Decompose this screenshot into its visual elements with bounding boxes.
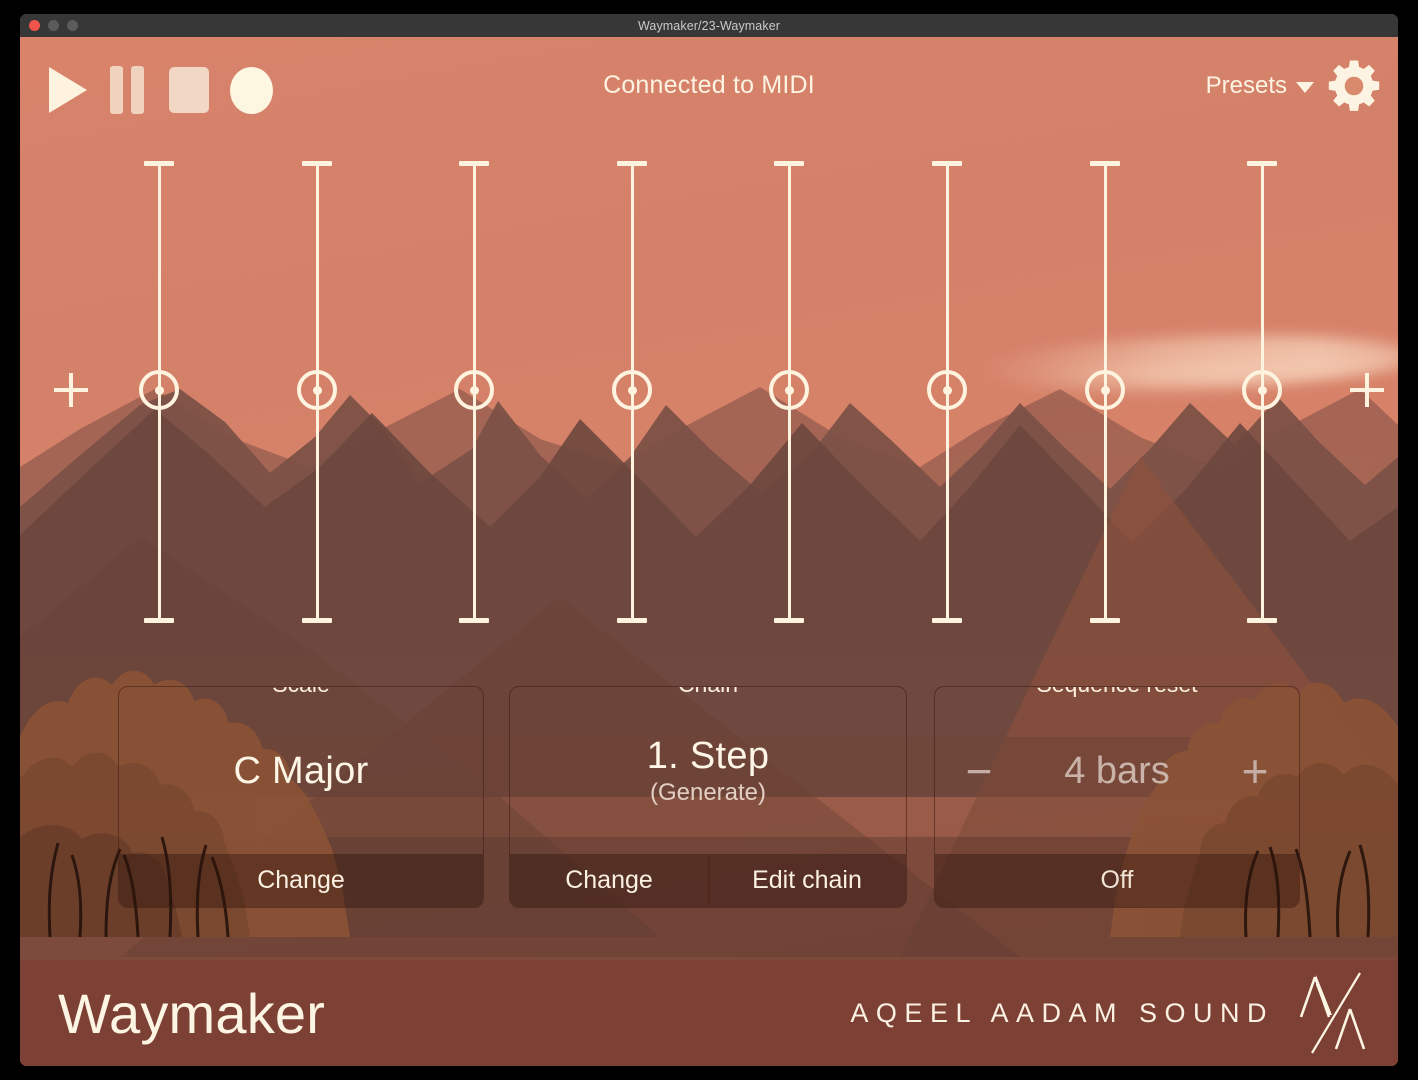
step-slider-3[interactable] [454, 161, 494, 623]
maximize-window-icon[interactable] [67, 20, 78, 31]
slider-cap-bottom [617, 618, 647, 623]
chain-panel-legend: Chain [665, 686, 751, 698]
slider-cap-bottom [459, 618, 489, 623]
transport-controls [34, 61, 282, 119]
slider-handle[interactable] [139, 370, 179, 410]
company-name: AQEEL AADAM SOUND [850, 998, 1274, 1029]
app-root: Waymaker/23-Waymaker [0, 0, 1418, 1080]
company-branding: AQEEL AADAM SOUND [850, 971, 1376, 1055]
window-title: Waymaker/23-Waymaker [638, 19, 780, 33]
step-slider-1[interactable] [139, 161, 179, 623]
chain-value: 1. Step [647, 735, 770, 778]
sequence-reset-panel-legend: Sequence reset [1023, 686, 1210, 698]
chain-panel-actions: Change Edit chain [510, 854, 906, 907]
toolbar-right: Presets [1206, 37, 1384, 134]
add-step-left-button[interactable] [54, 373, 88, 407]
footer-branding-bar: Waymaker AQEEL AADAM SOUND [20, 960, 1398, 1066]
slider-cap-bottom [302, 618, 332, 623]
chain-sub-value: (Generate) [650, 779, 766, 807]
close-window-icon[interactable] [29, 20, 40, 31]
slider-cap-top [1247, 161, 1277, 166]
slider-cap-bottom [1090, 618, 1120, 623]
pause-button[interactable] [96, 61, 158, 119]
pause-icon [110, 66, 144, 114]
sequence-reset-decrement-button[interactable]: − [957, 748, 1001, 794]
record-button[interactable] [220, 61, 282, 119]
slider-handle[interactable] [297, 370, 337, 410]
step-slider-4[interactable] [612, 161, 652, 623]
slider-cap-top [932, 161, 962, 166]
step-slider-6[interactable] [927, 161, 967, 623]
scale-panel: Scale C Major Change [118, 686, 484, 908]
slider-cap-top [144, 161, 174, 166]
stop-button[interactable] [158, 61, 220, 119]
sequence-reset-toggle-button[interactable]: Off [935, 854, 1299, 907]
slider-handle[interactable] [927, 370, 967, 410]
slider-cap-bottom [1247, 618, 1277, 623]
slider-handle[interactable] [769, 370, 809, 410]
slider-handle[interactable] [454, 370, 494, 410]
step-slider-8[interactable] [1242, 161, 1282, 623]
slider-cap-bottom [932, 618, 962, 623]
slider-cap-bottom [144, 618, 174, 623]
step-slider-7[interactable] [1085, 161, 1125, 623]
step-sliders [20, 37, 1398, 1066]
scale-value: C Major [233, 750, 368, 793]
traffic-lights [29, 14, 78, 37]
sequence-reset-panel-actions: Off [935, 854, 1299, 907]
sequence-reset-stepper: − 4 bars + [935, 748, 1299, 794]
record-icon [230, 67, 273, 114]
scale-panel-legend: Scale [259, 686, 343, 698]
step-slider-2[interactable] [297, 161, 337, 623]
play-icon [49, 67, 87, 113]
chain-edit-button[interactable]: Edit chain [708, 854, 906, 907]
sequence-reset-value: 4 bars [1037, 750, 1197, 793]
play-button[interactable] [34, 61, 96, 119]
scale-change-button[interactable]: Change [119, 854, 483, 907]
stop-icon [169, 67, 209, 113]
presets-dropdown[interactable]: Presets [1206, 72, 1314, 100]
transport-toolbar: Connected to MIDI Presets [20, 37, 1398, 134]
slider-cap-top [1090, 161, 1120, 166]
minimize-window-icon[interactable] [48, 20, 59, 31]
plugin-window: Waymaker/23-Waymaker [20, 14, 1398, 1066]
slider-handle[interactable] [1242, 370, 1282, 410]
slider-cap-top [617, 161, 647, 166]
presets-label: Presets [1206, 72, 1287, 100]
chevron-down-icon [1296, 82, 1314, 93]
midi-status-label: Connected to MIDI [603, 71, 815, 100]
sequence-reset-increment-button[interactable]: + [1233, 748, 1277, 794]
chain-panel: Chain 1. Step (Generate) Change Edit cha… [509, 686, 907, 908]
slider-cap-top [459, 161, 489, 166]
add-step-right-button[interactable] [1350, 373, 1384, 407]
gear-icon[interactable] [1328, 60, 1380, 112]
slider-cap-top [774, 161, 804, 166]
sequence-reset-panel: Sequence reset − 4 bars + Off [934, 686, 1300, 908]
slider-handle[interactable] [1085, 370, 1125, 410]
slider-handle[interactable] [612, 370, 652, 410]
chain-change-button[interactable]: Change [510, 854, 708, 907]
window-titlebar: Waymaker/23-Waymaker [20, 14, 1398, 37]
a-slash-a-logo-icon [1290, 971, 1376, 1055]
scale-panel-actions: Change [119, 854, 483, 907]
slider-cap-bottom [774, 618, 804, 623]
product-name: Waymaker [58, 981, 325, 1046]
step-slider-5[interactable] [769, 161, 809, 623]
slider-cap-top [302, 161, 332, 166]
